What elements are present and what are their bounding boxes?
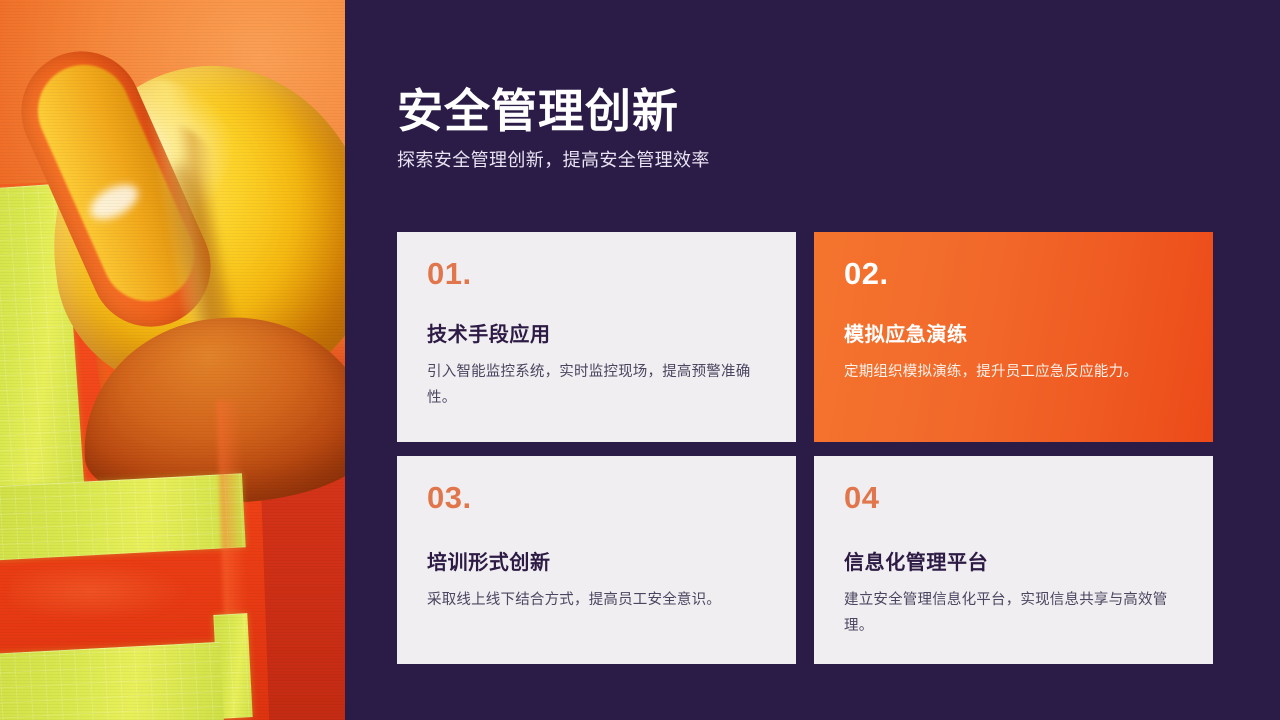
card-01[interactable]: 01. 技术手段应用 引入智能监控系统，实时监控现场，提高预警准确性。 <box>397 232 796 442</box>
presentation-slide: 安全管理创新 探索安全管理创新，提高安全管理效率 01. 技术手段应用 引入智能… <box>0 0 1280 720</box>
card-body: 定期组织模拟演练，提升员工应急反应能力。 <box>844 360 1183 386</box>
card-title: 模拟应急演练 <box>844 323 1183 348</box>
card-title: 技术手段应用 <box>427 323 766 348</box>
card-04[interactable]: 04 信息化管理平台 建立安全管理信息化平台，实现信息共享与高效管理。 <box>814 456 1213 664</box>
card-number: 03. <box>427 482 766 513</box>
card-02[interactable]: 02. 模拟应急演练 定期组织模拟演练，提升员工应急反应能力。 <box>814 232 1213 442</box>
page-subtitle: 探索安全管理创新，提高安全管理效率 <box>397 148 1157 173</box>
card-number: 01. <box>427 258 766 289</box>
card-body: 建立安全管理信息化平台，实现信息共享与高效管理。 <box>844 588 1183 640</box>
reflective-stripe-upper <box>0 473 246 560</box>
hero-image-panel <box>0 0 345 720</box>
card-title: 培训形式创新 <box>427 551 766 576</box>
card-body: 采取线上线下结合方式，提高员工安全意识。 <box>427 588 766 614</box>
slide-content: 安全管理创新 探索安全管理创新，提高安全管理效率 01. 技术手段应用 引入智能… <box>345 0 1280 720</box>
reflective-stripe-lower <box>0 642 224 720</box>
title-block: 安全管理创新 探索安全管理创新，提高安全管理效率 <box>397 86 1157 173</box>
page-title: 安全管理创新 <box>397 86 1157 138</box>
card-title: 信息化管理平台 <box>844 551 1183 576</box>
vest-fold-highlight <box>10 556 210 626</box>
card-number: 02. <box>844 258 1183 289</box>
card-number: 04 <box>844 482 1183 513</box>
card-03[interactable]: 03. 培训形式创新 采取线上线下结合方式，提高员工安全意识。 <box>397 456 796 664</box>
card-body: 引入智能监控系统，实时监控现场，提高预警准确性。 <box>427 360 766 412</box>
card-grid: 01. 技术手段应用 引入智能监控系统，实时监控现场，提高预警准确性。 02. … <box>397 232 1213 664</box>
